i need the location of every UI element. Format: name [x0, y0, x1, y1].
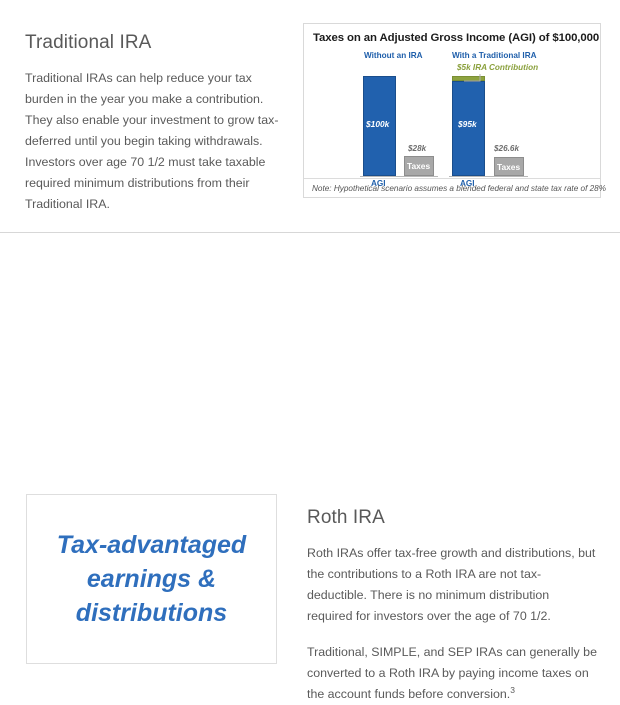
- pull-quote-box: Tax-advantaged earnings & distributions: [26, 494, 277, 664]
- tax-comparison-chart: Taxes on an Adjusted Gross Income (AGI) …: [303, 23, 601, 198]
- roth-ira-footnote-marker: 3: [510, 685, 515, 695]
- roth-ira-text-column: Roth IRA Roth IRAs offer tax-free growth…: [307, 507, 597, 705]
- traditional-ira-section: Traditional IRA Traditional IRAs can hel…: [0, 0, 620, 232]
- chart-leader-line: [304, 24, 600, 197]
- roth-ira-paragraph-2-text: Traditional, SIMPLE, and SEP IRAs can ge…: [307, 645, 597, 701]
- traditional-ira-text-column: Traditional IRA Traditional IRAs can hel…: [25, 32, 287, 215]
- section-divider: [0, 232, 620, 233]
- roth-ira-paragraph-1: Roth IRAs offer tax-free growth and dist…: [307, 543, 597, 627]
- traditional-ira-heading: Traditional IRA: [25, 32, 287, 54]
- roth-ira-paragraph-2: Traditional, SIMPLE, and SEP IRAs can ge…: [307, 642, 597, 705]
- pull-quote-text: Tax-advantaged earnings & distributions: [27, 528, 276, 630]
- traditional-ira-paragraph: Traditional IRAs can help reduce your ta…: [25, 68, 287, 215]
- roth-ira-heading: Roth IRA: [307, 507, 597, 529]
- chart-plot-area: Without an IRA With a Traditional IRA $5…: [304, 24, 600, 197]
